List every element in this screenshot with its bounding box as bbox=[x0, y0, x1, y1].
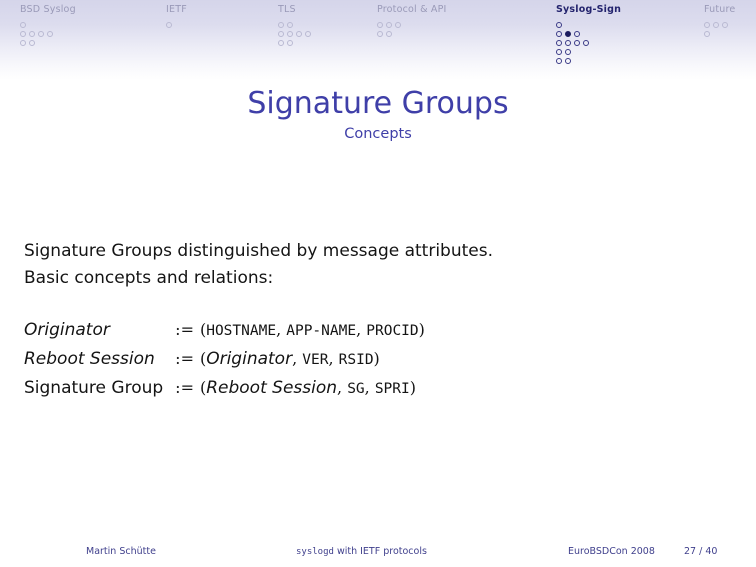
nav-dot[interactable] bbox=[296, 31, 302, 37]
nav-dot[interactable] bbox=[29, 40, 35, 46]
definition-text: Reboot Session bbox=[206, 378, 337, 398]
nav-section-tls[interactable]: TLS bbox=[278, 4, 314, 46]
page-subtitle: Concepts bbox=[0, 124, 756, 144]
definition-list: Originator:=(HOSTNAME, APP-NAME, PROCID)… bbox=[24, 316, 425, 403]
definition-operator: := bbox=[175, 345, 200, 374]
definition-operator: := bbox=[175, 374, 200, 403]
nav-slide-dots bbox=[377, 19, 447, 37]
definition-text: ) bbox=[374, 349, 380, 368]
footer-talk-rest: with IETF protocols bbox=[334, 546, 427, 557]
nav-dot-row bbox=[20, 19, 76, 28]
nav-dot[interactable] bbox=[29, 31, 35, 37]
nav-dot-current[interactable] bbox=[565, 31, 571, 37]
nav-dot-row bbox=[556, 37, 621, 46]
nav-dot[interactable] bbox=[166, 22, 172, 28]
nav-dot[interactable] bbox=[556, 58, 562, 64]
nav-dot[interactable] bbox=[565, 40, 571, 46]
definition-text: Originator bbox=[206, 349, 292, 369]
nav-dot[interactable] bbox=[287, 31, 293, 37]
nav-section-protocol-api[interactable]: Protocol & API bbox=[377, 4, 447, 37]
nav-dot[interactable] bbox=[574, 31, 580, 37]
body-paragraph: Signature Groups distinguished by messag… bbox=[24, 238, 724, 292]
definition-text: , bbox=[328, 349, 338, 368]
nav-dot[interactable] bbox=[377, 31, 383, 37]
nav-dot[interactable] bbox=[20, 31, 26, 37]
nav-dot-row bbox=[556, 55, 621, 64]
footer-talk-mono: syslogd bbox=[296, 547, 334, 557]
definition-text: ) bbox=[419, 320, 425, 339]
definition-value: (HOSTNAME, APP-NAME, PROCID) bbox=[200, 316, 425, 345]
nav-dot[interactable] bbox=[556, 31, 562, 37]
definition-value: (Originator, VER, RSID) bbox=[200, 345, 425, 374]
nav-slide-dots bbox=[166, 19, 187, 28]
nav-dot-row bbox=[377, 19, 447, 28]
nav-section-label: TLS bbox=[278, 4, 314, 16]
definition-token: PROCID bbox=[366, 323, 418, 339]
nav-dot[interactable] bbox=[574, 40, 580, 46]
nav-dot[interactable] bbox=[565, 58, 571, 64]
nav-section-label: IETF bbox=[166, 4, 187, 16]
nav-dot[interactable] bbox=[278, 40, 284, 46]
definition-token: SG bbox=[347, 381, 364, 397]
definition-row: Reboot Session:=(Originator, VER, RSID) bbox=[24, 345, 425, 374]
body-line: Basic concepts and relations: bbox=[24, 265, 724, 292]
nav-dot-row bbox=[20, 28, 76, 37]
definition-token: SPRI bbox=[375, 381, 410, 397]
nav-dot[interactable] bbox=[287, 22, 293, 28]
nav-dot[interactable] bbox=[565, 49, 571, 55]
definition-value: (Reboot Session, SG, SPRI) bbox=[200, 374, 425, 403]
nav-dot-row bbox=[704, 28, 735, 37]
nav-dot[interactable] bbox=[556, 49, 562, 55]
footer-author: Martin Schütte bbox=[86, 545, 156, 559]
nav-dot[interactable] bbox=[20, 40, 26, 46]
nav-section-label: Protocol & API bbox=[377, 4, 447, 16]
nav-dot[interactable] bbox=[386, 22, 392, 28]
definition-token: VER bbox=[302, 352, 328, 368]
nav-section-future[interactable]: Future bbox=[704, 4, 735, 37]
definition-token: APP-NAME bbox=[286, 323, 356, 339]
definition-text: , bbox=[292, 349, 302, 368]
nav-section-label: Future bbox=[704, 4, 735, 16]
nav-dot-row bbox=[556, 19, 621, 28]
definition-text: ) bbox=[410, 378, 416, 397]
nav-dot-row bbox=[20, 37, 76, 46]
slide-footer: Martin Schütte syslogd with IETF protoco… bbox=[0, 545, 756, 559]
body-line: Signature Groups distinguished by messag… bbox=[24, 238, 724, 265]
nav-dot-row bbox=[556, 28, 621, 37]
nav-section-label: BSD Syslog bbox=[20, 4, 76, 16]
footer-page-number: 27 / 40 bbox=[684, 545, 717, 559]
nav-dot[interactable] bbox=[278, 31, 284, 37]
definition-term: Originator bbox=[24, 316, 175, 345]
definition-operator: := bbox=[175, 316, 200, 345]
nav-dot[interactable] bbox=[20, 22, 26, 28]
nav-dot[interactable] bbox=[704, 31, 710, 37]
nav-section-label: Syslog-Sign bbox=[556, 4, 621, 16]
nav-dot[interactable] bbox=[38, 31, 44, 37]
nav-slide-dots bbox=[278, 19, 314, 46]
definition-term: Reboot Session bbox=[24, 345, 175, 374]
nav-dot[interactable] bbox=[583, 40, 589, 46]
page-title: Signature Groups bbox=[0, 86, 756, 122]
nav-dot-row bbox=[704, 19, 735, 28]
definition-token: RSID bbox=[339, 352, 374, 368]
footer-event: EuroBSDCon 2008 bbox=[568, 545, 655, 559]
nav-dot-row bbox=[278, 19, 314, 28]
nav-dot[interactable] bbox=[377, 22, 383, 28]
nav-slide-dots bbox=[556, 19, 621, 64]
definition-row: Signature Group:=(Reboot Session, SG, SP… bbox=[24, 374, 425, 403]
definition-term: Signature Group bbox=[24, 374, 175, 403]
definition-token: HOSTNAME bbox=[206, 323, 276, 339]
nav-dot-row bbox=[556, 46, 621, 55]
nav-dot-row bbox=[166, 19, 187, 28]
nav-slide-dots bbox=[704, 19, 735, 37]
nav-dot[interactable] bbox=[386, 31, 392, 37]
definition-row: Originator:=(HOSTNAME, APP-NAME, PROCID) bbox=[24, 316, 425, 345]
nav-section-bsd-syslog[interactable]: BSD Syslog bbox=[20, 4, 76, 46]
nav-dot[interactable] bbox=[722, 22, 728, 28]
title-block: Signature Groups Concepts bbox=[0, 86, 756, 144]
navigation-bar: BSD SyslogIETFTLSProtocol & APISyslog-Si… bbox=[0, 0, 756, 80]
nav-dot[interactable] bbox=[287, 40, 293, 46]
nav-dot-row bbox=[278, 37, 314, 46]
nav-dot[interactable] bbox=[556, 22, 562, 28]
nav-dot-row bbox=[278, 28, 314, 37]
definition-text: , bbox=[356, 320, 366, 339]
nav-dot[interactable] bbox=[704, 22, 710, 28]
nav-dot[interactable] bbox=[713, 22, 719, 28]
nav-dot[interactable] bbox=[395, 22, 401, 28]
nav-dot[interactable] bbox=[47, 31, 53, 37]
nav-dot[interactable] bbox=[556, 40, 562, 46]
nav-dot[interactable] bbox=[305, 31, 311, 37]
nav-section-syslog-sign[interactable]: Syslog-Sign bbox=[556, 4, 621, 64]
footer-talk-title: syslogd with IETF protocols bbox=[296, 545, 427, 559]
definition-text: , bbox=[337, 378, 347, 397]
definition-text: , bbox=[276, 320, 286, 339]
nav-dot[interactable] bbox=[278, 22, 284, 28]
definition-text: , bbox=[365, 378, 375, 397]
nav-section-ietf[interactable]: IETF bbox=[166, 4, 187, 28]
nav-dot-row bbox=[377, 28, 447, 37]
nav-slide-dots bbox=[20, 19, 76, 46]
